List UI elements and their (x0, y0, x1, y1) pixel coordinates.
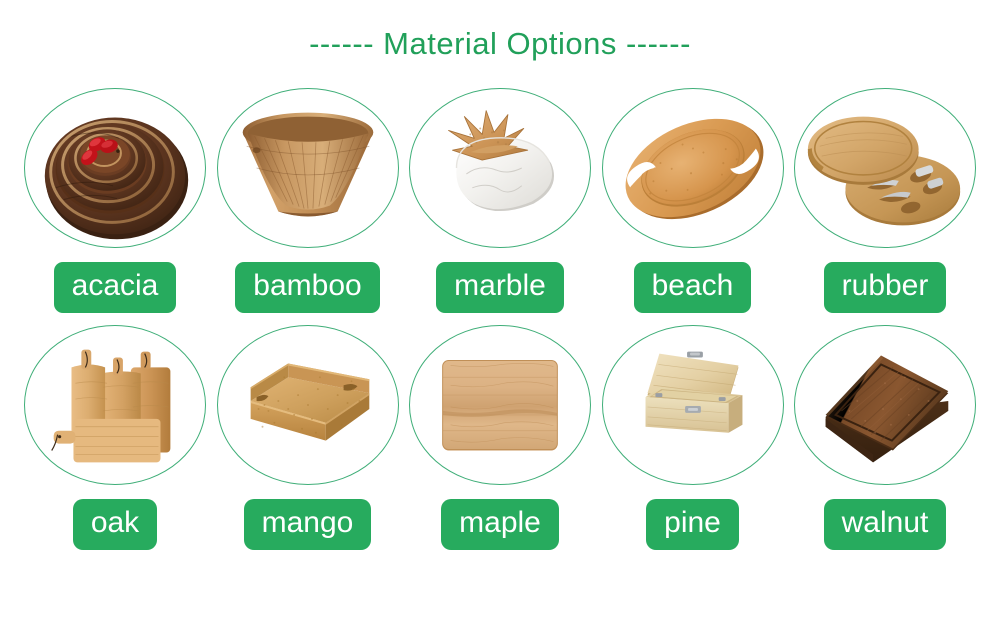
bamboo-badge-wrap: bamboo (215, 262, 401, 313)
material-option-acacia[interactable]: acacia (22, 88, 208, 313)
badge-maple[interactable]: maple (441, 499, 559, 550)
material-option-pine[interactable]: pine (600, 325, 786, 550)
material-option-rubber[interactable]: rubber (792, 88, 978, 313)
oak-image-frame[interactable] (24, 325, 206, 485)
marble-badge-wrap: marble (407, 262, 593, 313)
badge-mango[interactable]: mango (244, 499, 372, 550)
walnut-board-photo (795, 325, 975, 485)
material-option-marble[interactable]: marble (407, 88, 593, 313)
material-options-page: ------ Material Options ------ (0, 0, 1000, 634)
mango-wood-tray-photo (218, 325, 398, 485)
badge-acacia[interactable]: acacia (54, 262, 177, 313)
oak-badge-wrap: oak (22, 499, 208, 550)
mango-image-frame[interactable] (217, 325, 399, 485)
acacia-wood-plates-photo (25, 88, 205, 248)
rubber-image-frame[interactable] (794, 88, 976, 248)
badge-beach[interactable]: beach (634, 262, 752, 313)
material-option-oak[interactable]: oak (22, 325, 208, 550)
beach-image-frame[interactable] (602, 88, 784, 248)
pine-image-frame[interactable] (602, 325, 784, 485)
oak-cutting-boards-photo (25, 325, 205, 485)
marble-pineapple-board-photo (410, 88, 590, 248)
material-option-maple[interactable]: maple (407, 325, 593, 550)
walnut-badge-wrap: walnut (792, 499, 978, 550)
beech-oval-tray-photo (603, 88, 783, 248)
acacia-image-frame[interactable] (24, 88, 206, 248)
rubberwood-cheese-board-photo (795, 88, 975, 248)
material-option-walnut[interactable]: walnut (792, 325, 978, 550)
material-row-1: acacia (22, 88, 978, 313)
pine-box-photo (603, 325, 783, 485)
bamboo-image-frame[interactable] (217, 88, 399, 248)
rubber-badge-wrap: rubber (792, 262, 978, 313)
material-row-2: oak (22, 325, 978, 550)
material-options-grid: acacia (22, 88, 978, 550)
marble-image-frame[interactable] (409, 88, 591, 248)
page-title: ------ Material Options ------ (0, 26, 1000, 62)
badge-bamboo[interactable]: bamboo (235, 262, 379, 313)
badge-pine[interactable]: pine (646, 499, 739, 550)
acacia-badge-wrap: acacia (22, 262, 208, 313)
material-option-mango[interactable]: mango (215, 325, 401, 550)
maple-badge-wrap: maple (407, 499, 593, 550)
maple-cutting-board-photo (410, 325, 590, 485)
bamboo-bowl-photo (218, 88, 398, 248)
badge-oak[interactable]: oak (73, 499, 157, 550)
beach-badge-wrap: beach (600, 262, 786, 313)
badge-marble[interactable]: marble (436, 262, 564, 313)
badge-rubber[interactable]: rubber (824, 262, 947, 313)
pine-badge-wrap: pine (600, 499, 786, 550)
material-option-beach[interactable]: beach (600, 88, 786, 313)
badge-walnut[interactable]: walnut (824, 499, 947, 550)
maple-image-frame[interactable] (409, 325, 591, 485)
material-option-bamboo[interactable]: bamboo (215, 88, 401, 313)
mango-badge-wrap: mango (215, 499, 401, 550)
walnut-image-frame[interactable] (794, 325, 976, 485)
